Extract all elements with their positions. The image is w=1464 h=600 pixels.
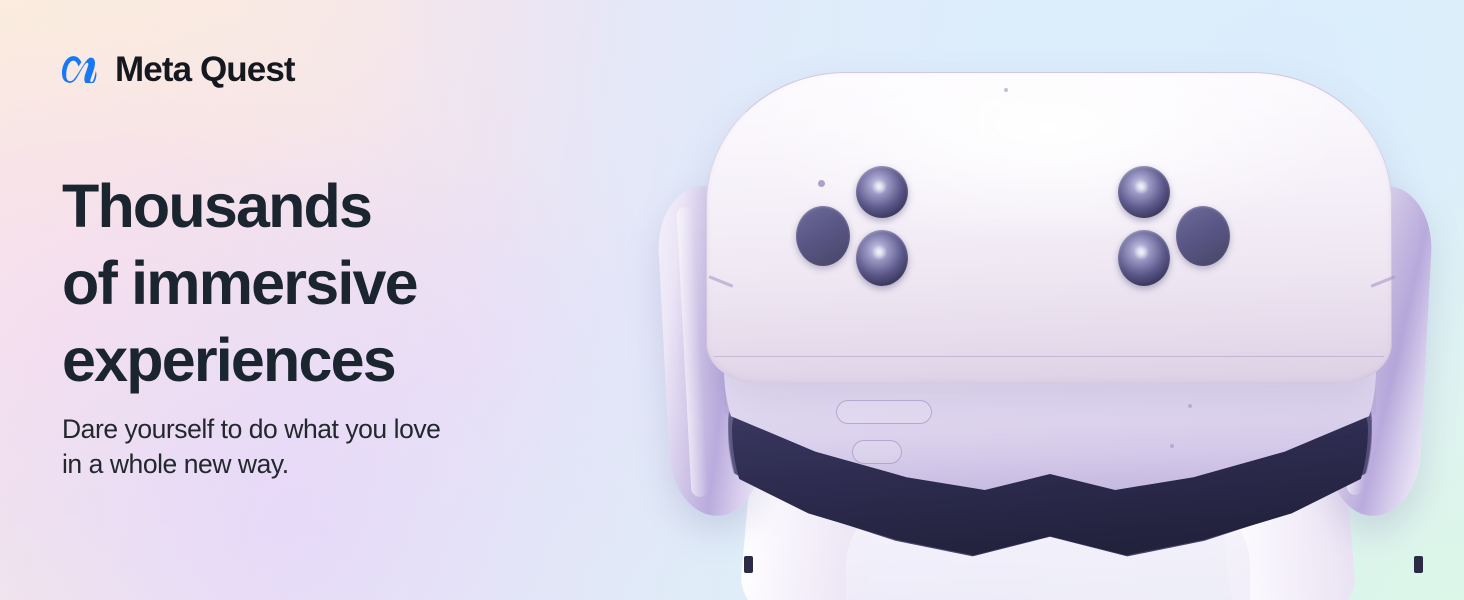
headset-speck-1 <box>1188 404 1192 408</box>
vr-headset-product-image <box>628 0 1464 600</box>
camera-cluster-left <box>796 166 946 292</box>
sensor-blank-left <box>796 206 850 266</box>
sensor-blank-right <box>1176 206 1230 266</box>
promo-subheadline: Dare yourself to do what you love in a w… <box>62 412 502 482</box>
camera-lens-right-upper <box>1118 166 1170 218</box>
meta-quest-wordmark: Meta Quest <box>115 52 295 87</box>
headline-line-2: of immersive <box>62 245 532 322</box>
meta-quest-logo-lockup: Meta Quest <box>62 52 295 87</box>
meta-infinity-emboss-icon <box>978 98 1036 138</box>
headset-shell-seam <box>714 356 1384 390</box>
camera-lens-right-lower <box>1118 230 1170 286</box>
headset-port-right <box>1414 556 1423 573</box>
headset-speck-2 <box>1170 444 1174 448</box>
camera-cluster-right <box>1080 166 1230 292</box>
headline-line-1: Thousands <box>62 168 532 245</box>
meta-infinity-icon <box>62 56 102 83</box>
headset-port-left <box>744 556 753 573</box>
headline-line-3: experiences <box>62 322 532 399</box>
subheadline-line-1: Dare yourself to do what you love <box>62 412 502 447</box>
subheadline-line-2: in a whole new way. <box>62 447 502 482</box>
camera-lens-left-upper <box>856 166 908 218</box>
promo-text-column: Meta Quest Thousands of immersive experi… <box>0 0 560 600</box>
headset-indicator-dot <box>1004 88 1008 92</box>
headset-control-glyph-1 <box>836 400 932 424</box>
meta-quest-promo-banner: Meta Quest Thousands of immersive experi… <box>0 0 1464 600</box>
ir-sensor-dot-left <box>818 180 825 187</box>
camera-lens-left-lower <box>856 230 908 286</box>
headset-control-glyph-2 <box>852 440 902 464</box>
promo-headline: Thousands of immersive experiences <box>62 168 532 399</box>
